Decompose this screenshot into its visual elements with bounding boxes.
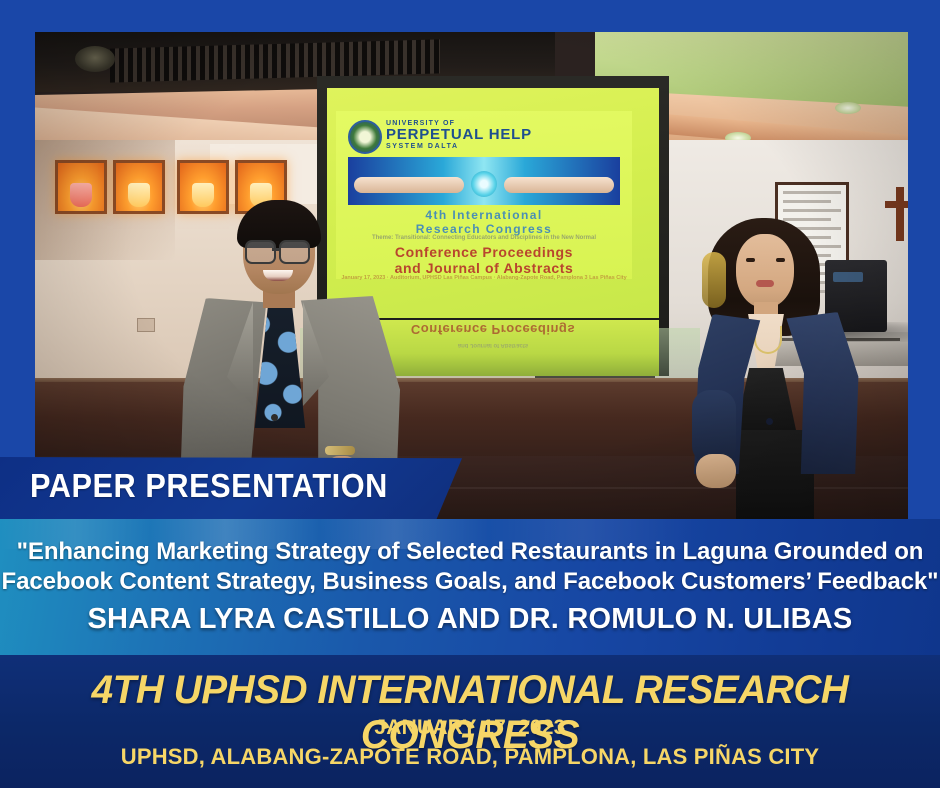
hand-right-icon (504, 177, 614, 193)
slide-university-line3: SYSTEM DALTA (386, 143, 532, 150)
slide-congress-line1: 4th International (425, 208, 542, 222)
eyeglasses-icon (245, 240, 276, 264)
female-eye (776, 258, 785, 262)
eyeglasses-icon (279, 240, 310, 264)
poster-canvas: UNIVERSITY OF PERPETUAL HELP SYSTEM DALT… (0, 0, 940, 788)
female-eye (746, 258, 755, 262)
slide-proceedings-line1: Conference Proceedings (395, 244, 573, 260)
presenter-female (680, 218, 880, 519)
paper-title-line2: Facebook Content Strategy, Business Goal… (0, 568, 940, 596)
wall-niche-light (55, 160, 107, 214)
paper-authors: SHARA LYRA CASTILLO AND DR. ROMULO N. UL… (0, 603, 940, 636)
ceiling-lamp-icon (75, 46, 115, 72)
female-hand (696, 454, 736, 488)
male-jacket-button (271, 414, 278, 421)
hand-left-icon (354, 177, 464, 193)
wall-outlet (137, 318, 155, 332)
crucifix-icon (896, 187, 904, 241)
slide-congress-line2: Research Congress (416, 222, 553, 236)
paper-presentation-banner: PAPER PRESENTATION (0, 457, 462, 519)
female-head (736, 234, 794, 308)
wall-niche-light (113, 160, 165, 214)
glow-orb-icon (471, 171, 497, 197)
female-arm (692, 390, 736, 464)
slide-handshake-banner (348, 157, 620, 205)
female-lips (756, 280, 774, 287)
paper-presentation-label: PAPER PRESENTATION (30, 467, 388, 505)
event-venue: UPHSD, ALABANG-ZAPOTE ROAD, PAMPLONA, LA… (0, 744, 940, 770)
wristwatch-icon (325, 446, 355, 455)
paper-title-line1: "Enhancing Marketing Strategy of Selecte… (0, 538, 940, 566)
downlight-icon (835, 102, 861, 114)
slide-proceedings-line2: and Journal of Abstracts (395, 260, 574, 276)
eyeglasses-bridge (272, 248, 279, 251)
slide-university-block: UNIVERSITY OF PERPETUAL HELP SYSTEM DALT… (386, 120, 532, 150)
necklace-icon (754, 326, 782, 354)
event-date: JANUARY 17, 2023 (0, 716, 940, 740)
slide-university-line2: PERPETUAL HELP (386, 127, 532, 143)
female-hair-highlight (702, 252, 726, 308)
event-photo: UNIVERSITY OF PERPETUAL HELP SYSTEM DALT… (35, 32, 908, 519)
uphsd-seal-icon (348, 120, 382, 154)
female-blazer-button (766, 418, 773, 425)
